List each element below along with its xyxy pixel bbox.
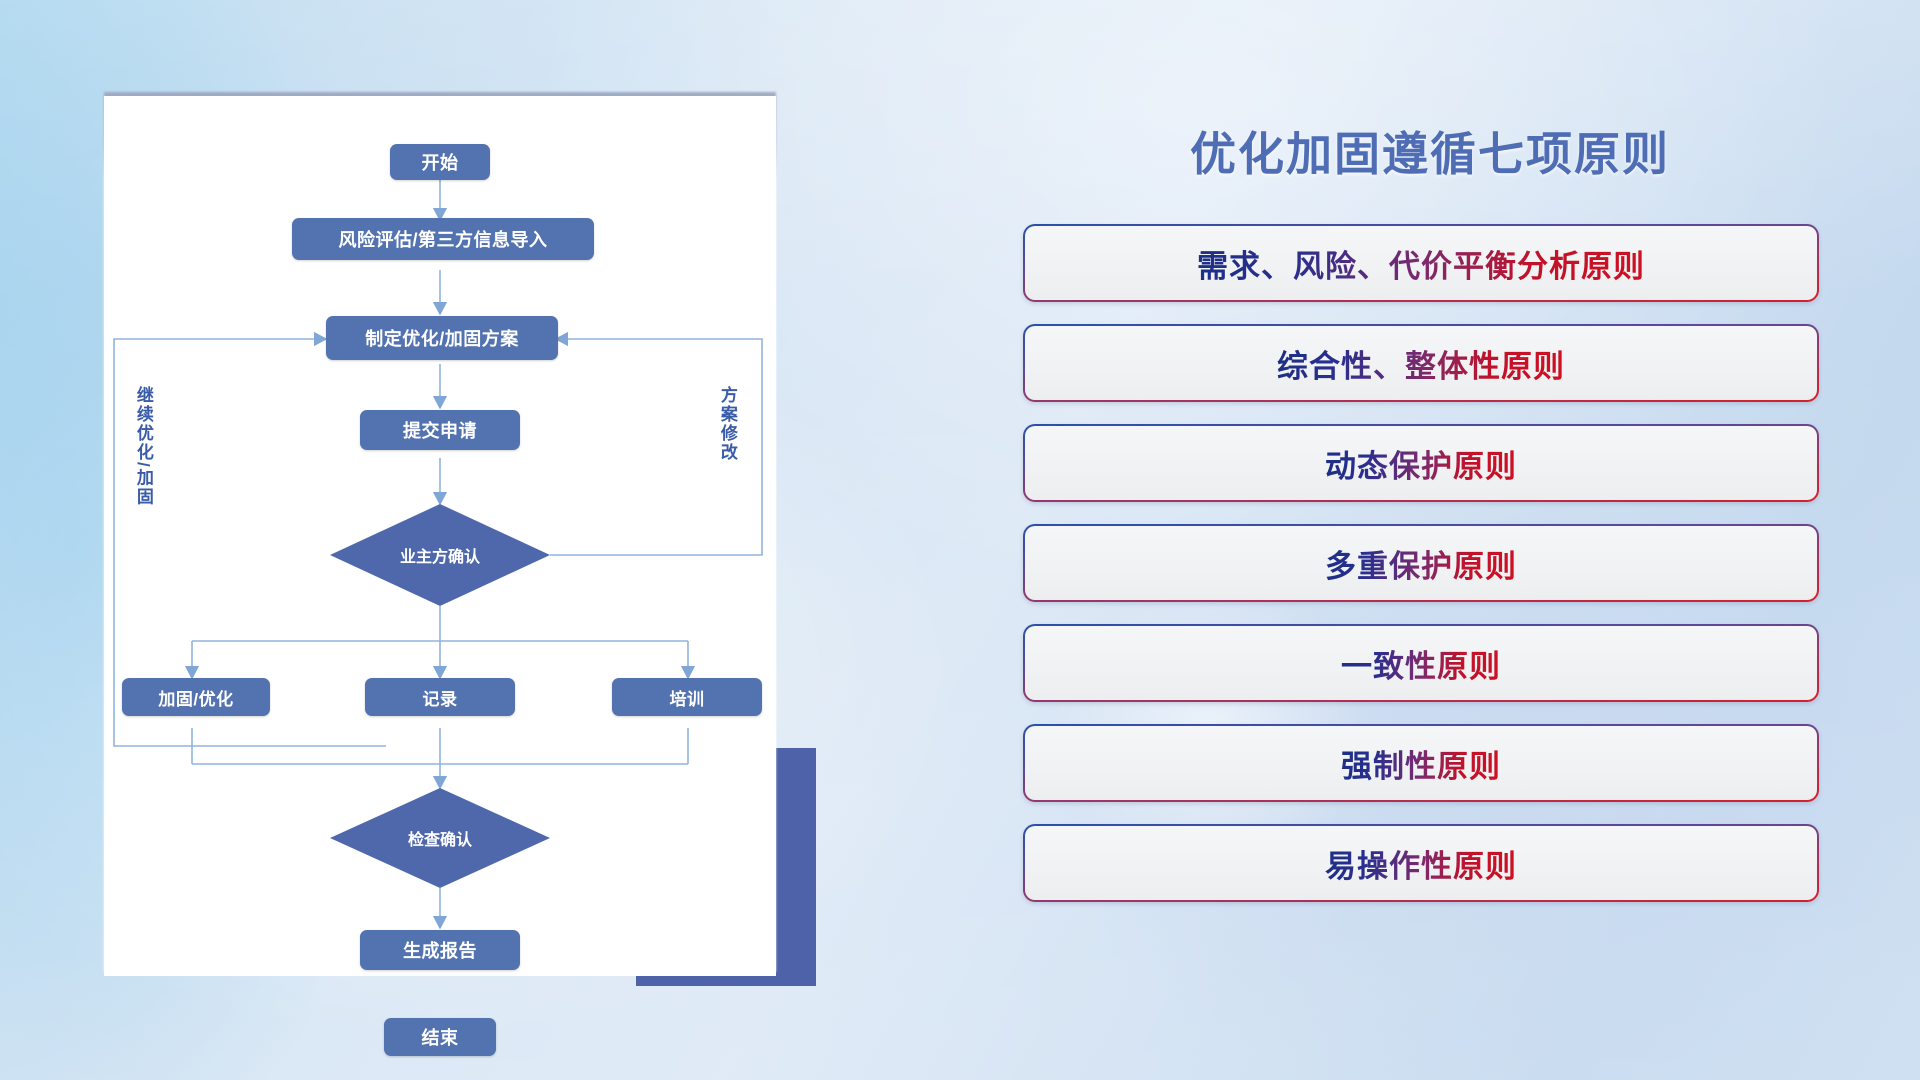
principles-panel: 优化加固遵循七项原则 需求、风险、代价平衡分析原则 综合性、整体性原则 动态保护… <box>1020 96 1840 996</box>
flow-node-risk-assessment-label: 风险评估/第三方信息导入 <box>339 226 548 252</box>
panel-title: 优化加固遵循七项原则 <box>1020 118 1840 184</box>
flow-node-training-label: 培训 <box>670 685 705 710</box>
principle-item-inner: 多重保护原则 <box>1025 526 1817 600</box>
flow-node-plan[interactable]: 制定优化/加固方案 <box>326 316 558 360</box>
principle-item-inner: 易操作性原则 <box>1025 826 1817 900</box>
flow-node-reinforce[interactable]: 加固/优化 <box>122 678 270 716</box>
principle-item[interactable]: 强制性原则 <box>1023 724 1819 802</box>
principle-item-inner: 综合性、整体性原则 <box>1025 326 1817 400</box>
principle-item[interactable]: 综合性、整体性原则 <box>1023 324 1819 402</box>
flowchart: 开始 风险评估/第三方信息导入 制定优化/加固方案 提交申请 业主方确认 加固/… <box>104 96 776 976</box>
principle-item-inner: 一致性原则 <box>1025 626 1817 700</box>
principle-item-label: 一致性原则 <box>1341 641 1501 686</box>
flow-node-submit-label: 提交申请 <box>403 417 477 443</box>
flow-node-plan-label: 制定优化/加固方案 <box>365 325 519 351</box>
flow-edge-label-left-loop: 继续优化/加固 <box>134 386 152 536</box>
principle-item[interactable]: 一致性原则 <box>1023 624 1819 702</box>
flow-node-training[interactable]: 培训 <box>612 678 762 716</box>
flow-decision-owner-confirm-label: 业主方确认 <box>400 543 480 567</box>
principle-item-label: 强制性原则 <box>1341 741 1501 786</box>
flow-node-end[interactable]: 结束 <box>384 1018 496 1056</box>
flow-node-report-label: 生成报告 <box>403 937 477 963</box>
principle-item-label: 综合性、整体性原则 <box>1277 341 1565 386</box>
principles-list: 需求、风险、代价平衡分析原则 综合性、整体性原则 动态保护原则 多重保护原则 一… <box>1023 224 1819 924</box>
principle-item-inner: 强制性原则 <box>1025 726 1817 800</box>
principle-item-inner: 需求、风险、代价平衡分析原则 <box>1025 226 1817 300</box>
flow-node-start-label: 开始 <box>422 149 459 175</box>
principle-item-label: 多重保护原则 <box>1325 541 1517 586</box>
principle-item[interactable]: 易操作性原则 <box>1023 824 1819 902</box>
flow-node-record-label: 记录 <box>423 685 458 710</box>
principle-item-label: 易操作性原则 <box>1325 841 1517 886</box>
flow-decision-check-confirm[interactable]: 检查确认 <box>330 788 550 888</box>
flow-node-submit[interactable]: 提交申请 <box>360 410 520 450</box>
principle-item[interactable]: 多重保护原则 <box>1023 524 1819 602</box>
principle-item-inner: 动态保护原则 <box>1025 426 1817 500</box>
flow-node-end-label: 结束 <box>422 1024 459 1050</box>
flow-node-record[interactable]: 记录 <box>365 678 515 716</box>
flow-node-risk-assessment[interactable]: 风险评估/第三方信息导入 <box>292 218 594 260</box>
principle-item[interactable]: 动态保护原则 <box>1023 424 1819 502</box>
flowchart-card: 开始 风险评估/第三方信息导入 制定优化/加固方案 提交申请 业主方确认 加固/… <box>104 96 776 976</box>
flow-decision-check-confirm-label: 检查确认 <box>408 826 472 850</box>
flow-node-report[interactable]: 生成报告 <box>360 930 520 970</box>
flow-node-reinforce-label: 加固/优化 <box>158 685 233 710</box>
principle-item[interactable]: 需求、风险、代价平衡分析原则 <box>1023 224 1819 302</box>
principle-item-label: 需求、风险、代价平衡分析原则 <box>1197 241 1645 286</box>
flow-decision-owner-confirm[interactable]: 业主方确认 <box>330 504 550 606</box>
flow-edge-label-right-loop: 方案修改 <box>718 386 736 502</box>
principle-item-label: 动态保护原则 <box>1325 441 1517 486</box>
flow-node-start[interactable]: 开始 <box>390 144 490 180</box>
